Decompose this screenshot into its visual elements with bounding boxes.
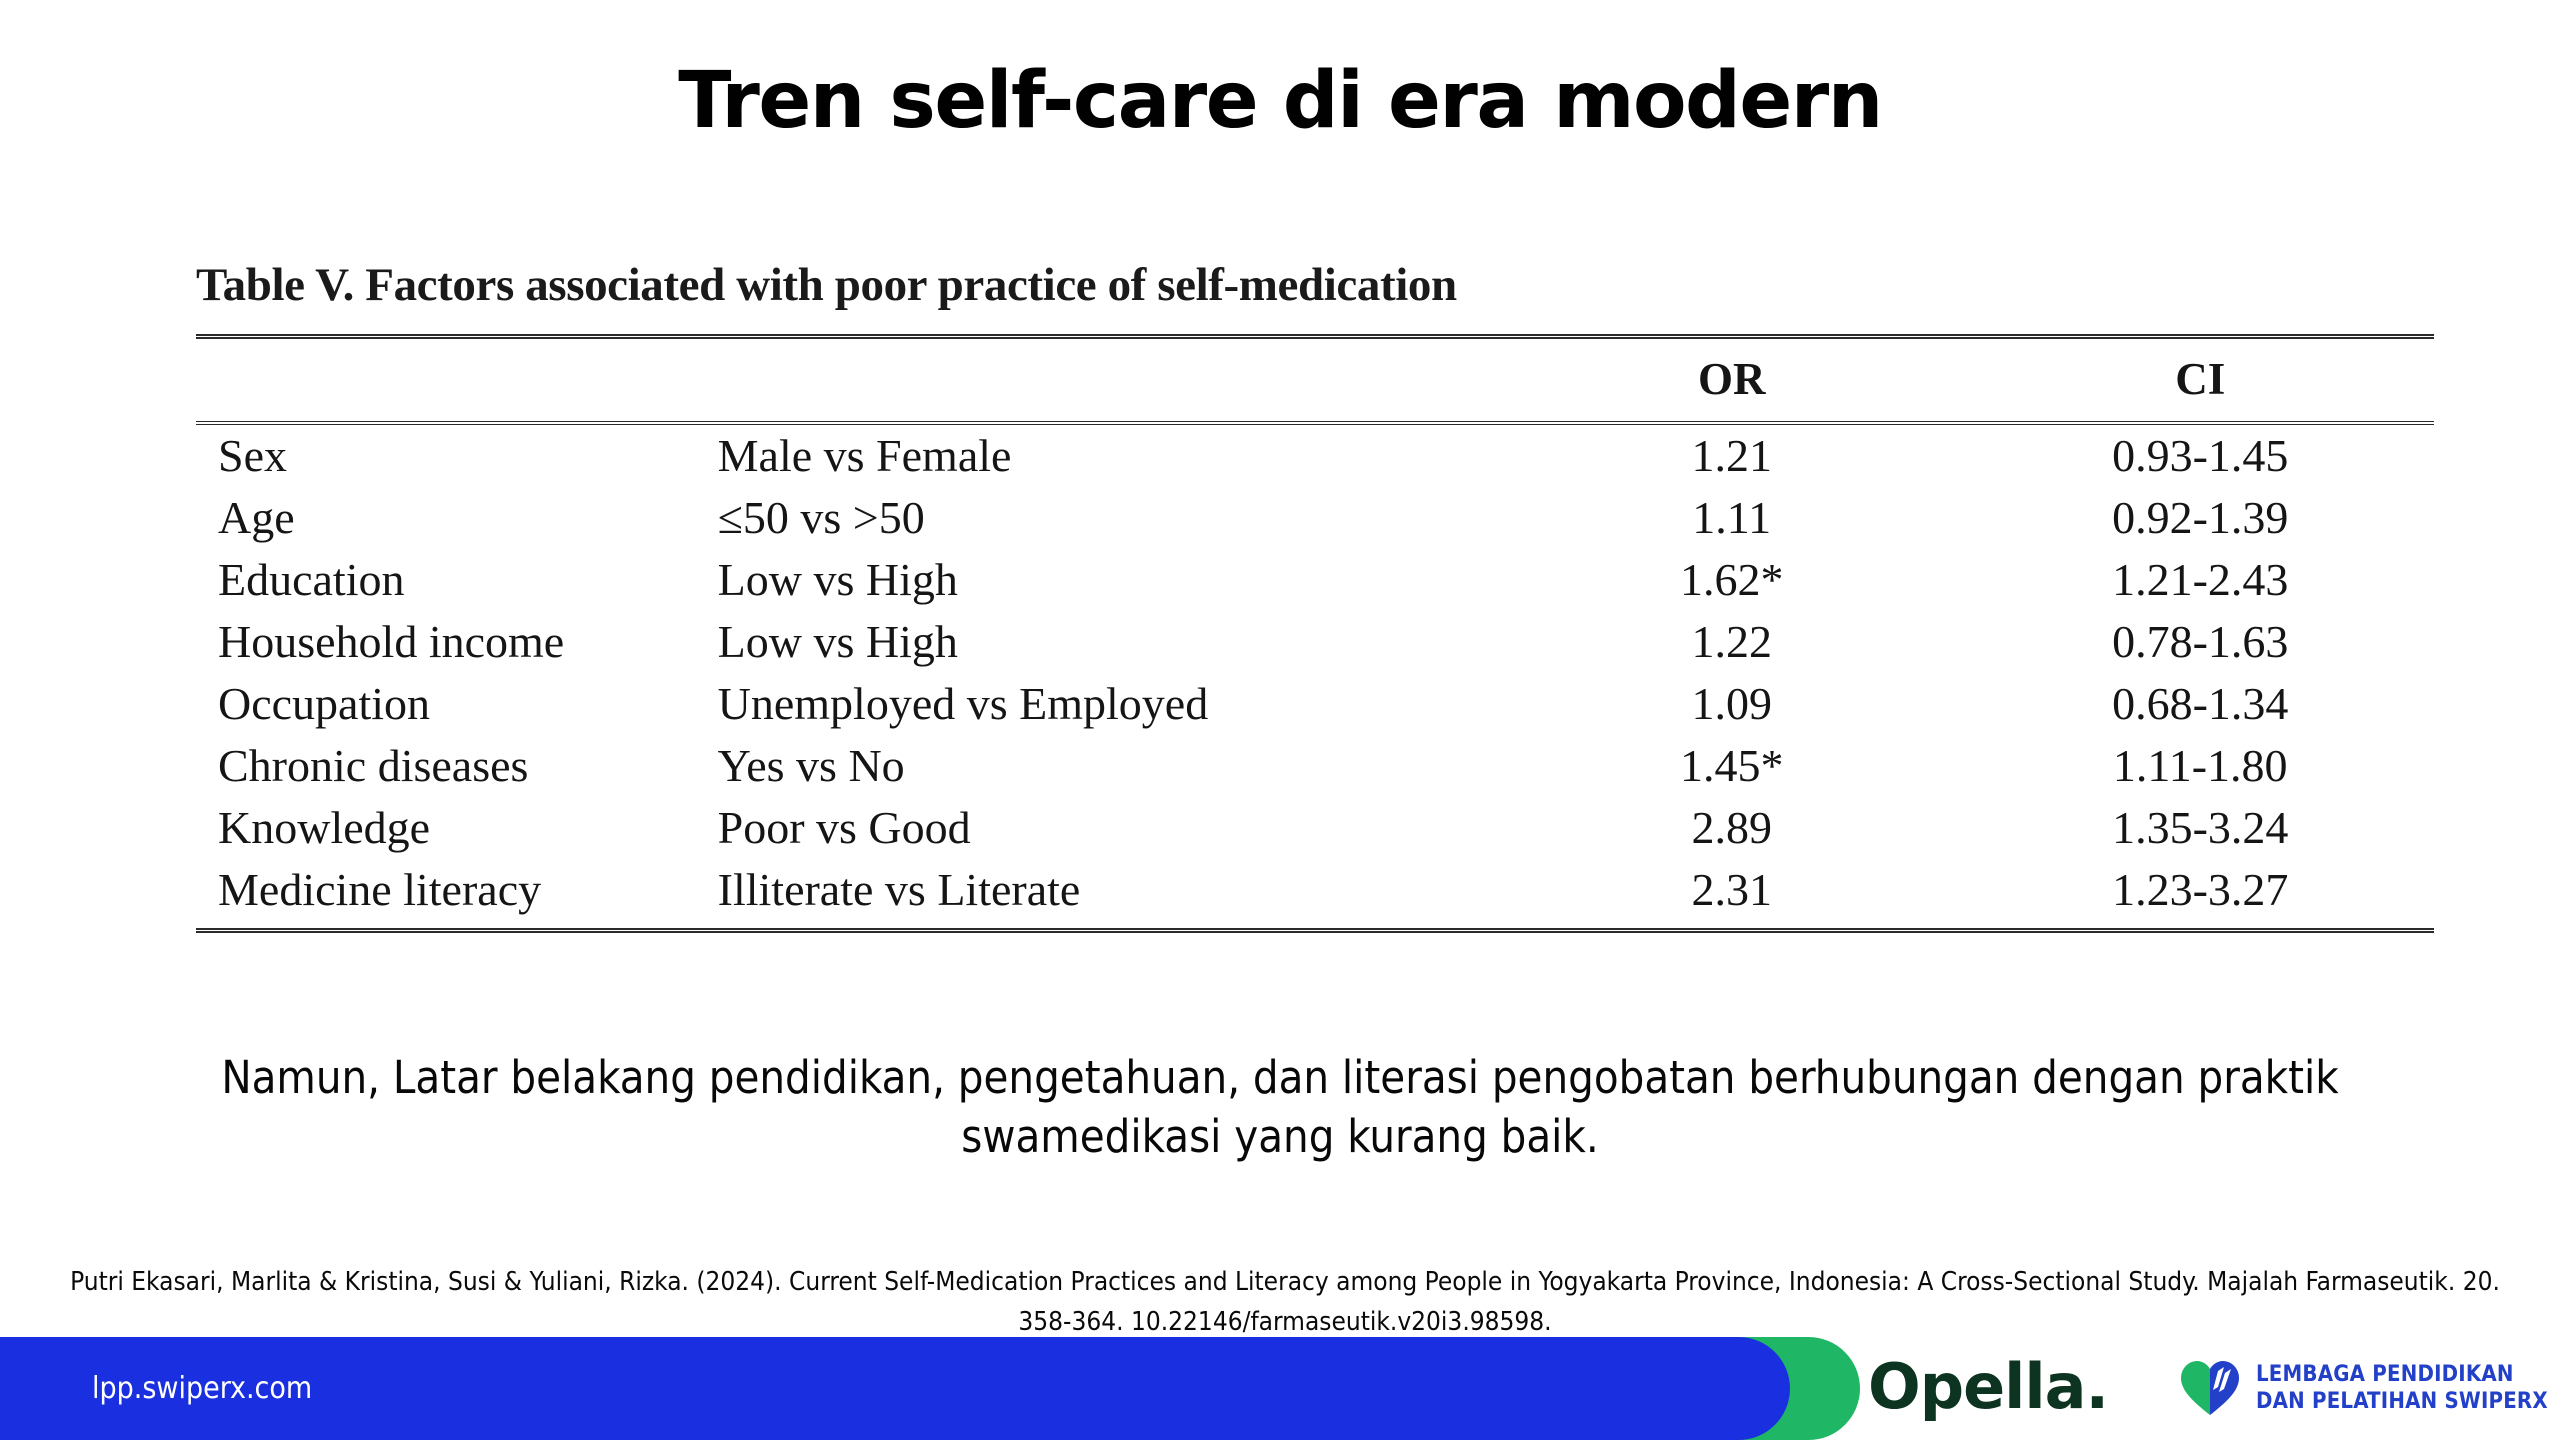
lpp-wordmark-line2: DAN PELATIHAN SWIPERX [2256,1389,2548,1414]
cell-comparison: Illiterate vs Literate [718,859,1497,931]
cell-or: 1.11 [1497,487,1967,549]
table-row: Age ≤50 vs >50 1.11 0.92-1.39 [196,487,2434,549]
table-row: Medicine literacy Illiterate vs Literate… [196,859,2434,931]
cell-factor: Sex [196,423,718,487]
citation-text: Putri Ekasari, Marlita & Kristina, Susi … [40,1262,2530,1343]
table-caption: Table V. Factors associated with poor pr… [196,258,2434,312]
cell-or: 2.31 [1497,859,1967,931]
cell-factor: Medicine literacy [196,859,718,931]
cell-comparison: Male vs Female [718,423,1497,487]
cell-factor: Occupation [196,673,718,735]
table-row: Chronic diseases Yes vs No 1.45* 1.11-1.… [196,735,2434,797]
cell-factor: Age [196,487,718,549]
conclusion-text: Namun, Latar belakang pendidikan, penget… [90,1048,2470,1167]
cell-or: 1.22 [1497,611,1967,673]
cell-or: 1.62* [1497,549,1967,611]
table-header-row: OR CI [196,337,2434,424]
cell-or: 2.89 [1497,797,1967,859]
table-row: Occupation Unemployed vs Employed 1.09 0… [196,673,2434,735]
column-header-factor [196,337,718,424]
cell-comparison: Low vs High [718,611,1497,673]
lpp-wordmark-line1: LEMBAGA PENDIDIKAN [2256,1362,2514,1387]
table-row: Sex Male vs Female 1.21 0.93-1.45 [196,423,2434,487]
table-row: Knowledge Poor vs Good 2.89 1.35-3.24 [196,797,2434,859]
cell-ci: 0.93-1.45 [1966,423,2434,487]
heart-icon [2178,1357,2242,1421]
footer-url[interactable]: lpp.swiperx.com [92,1337,312,1440]
factors-table: OR CI Sex Male vs Female 1.21 0.93-1.45 … [196,334,2434,933]
column-header-ci: CI [1966,337,2434,424]
column-header-or: OR [1497,337,1967,424]
table-row: Education Low vs High 1.62* 1.21-2.43 [196,549,2434,611]
cell-comparison: Low vs High [718,549,1497,611]
column-header-comparison [718,337,1497,424]
cell-comparison: Poor vs Good [718,797,1497,859]
opella-wordmark: Opella. [1868,1337,2108,1440]
cell-ci: 1.23-3.27 [1966,859,2434,931]
cell-factor: Household income [196,611,718,673]
cell-comparison: Unemployed vs Employed [718,673,1497,735]
cell-ci: 0.78-1.63 [1966,611,2434,673]
cell-ci: 0.92-1.39 [1966,487,2434,549]
cell-comparison: ≤50 vs >50 [718,487,1497,549]
table-row: Household income Low vs High 1.22 0.78-1… [196,611,2434,673]
cell-factor: Chronic diseases [196,735,718,797]
cell-or: 1.21 [1497,423,1967,487]
footer-bar: lpp.swiperx.com Opella. LEMBAGA PENDIDIK… [0,1337,2560,1440]
cell-or: 1.45* [1497,735,1967,797]
cell-comparison: Yes vs No [718,735,1497,797]
cell-or: 1.09 [1497,673,1967,735]
cell-ci: 1.35-3.24 [1966,797,2434,859]
page-title: Tren self-care di era modern [0,56,2560,146]
lpp-logo-lockup: LEMBAGA PENDIDIKAN DAN PELATIHAN SWIPERX [2178,1355,2548,1423]
table-figure: Table V. Factors associated with poor pr… [196,258,2434,933]
cell-ci: 1.21-2.43 [1966,549,2434,611]
cell-factor: Knowledge [196,797,718,859]
cell-ci: 0.68-1.34 [1966,673,2434,735]
lpp-wordmark: LEMBAGA PENDIDIKAN DAN PELATIHAN SWIPERX [2256,1362,2548,1416]
cell-factor: Education [196,549,718,611]
cell-ci: 1.11-1.80 [1966,735,2434,797]
